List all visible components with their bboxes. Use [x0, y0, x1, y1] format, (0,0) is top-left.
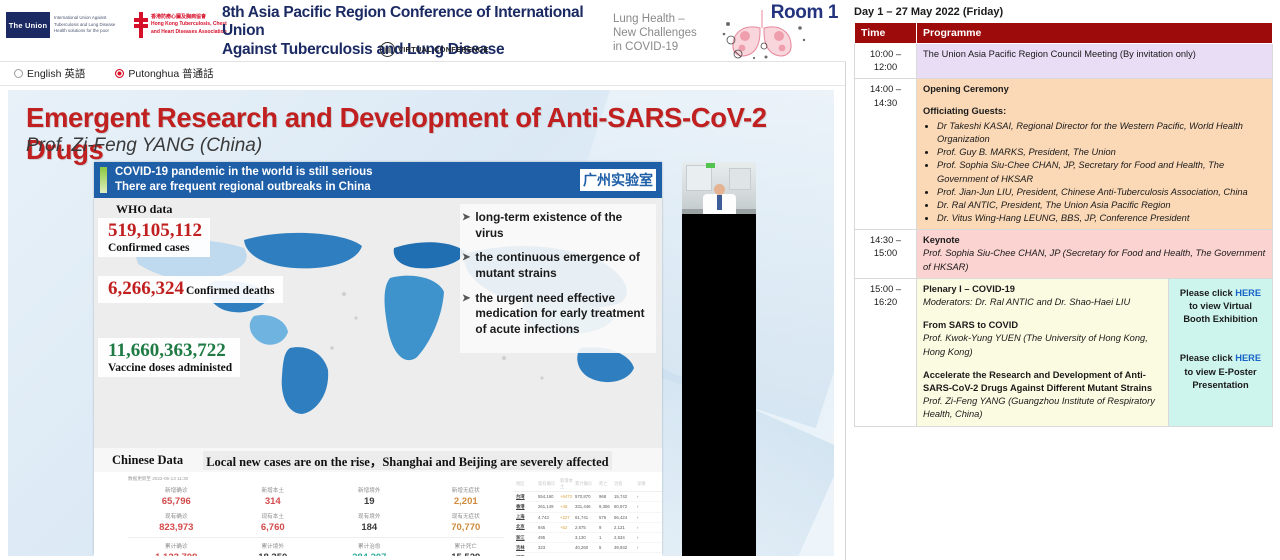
cell: ›: [637, 555, 647, 556]
table-row: 吉林32340,260539,932›: [514, 543, 662, 553]
row-programme: Keynote Prof. Sophia Siu-Chee CHAN, JP (…: [917, 230, 1273, 279]
session-title: Plenary I – COVID-19: [923, 283, 1162, 296]
stat-label: 现有确诊: [128, 512, 225, 520]
cell: 2,121: [614, 525, 635, 530]
virtual-booth-link-block[interactable]: Please click HERE to view Virtual Booth …: [1175, 287, 1266, 327]
arrow-bullet-icon: ➤: [462, 250, 470, 281]
conference-tagline: Lung Health – New Challenges in COVID-19: [613, 12, 697, 54]
row-programme: Opening Ceremony Officiating Guests: Dr …: [917, 79, 1273, 230]
table-row-plenary[interactable]: 15:00 – 16:20 Plenary I – COVID-19 Moder…: [855, 278, 1273, 426]
webcam-person-tie: [717, 195, 722, 210]
stat-value: 184: [321, 522, 418, 533]
webcam-person-head: [714, 184, 725, 195]
stat-confirmed-deaths: 6,266,324 Confirmed deaths: [98, 276, 283, 303]
cell: 吉林: [516, 545, 536, 551]
cell: 202: [538, 555, 558, 556]
cell: ›: [637, 545, 647, 550]
lab-badge: 广州实验室: [580, 169, 656, 191]
column-header: 治愈: [614, 481, 635, 487]
cell: 3,130: [575, 535, 597, 540]
session-title: Opening Ceremony: [923, 83, 1266, 96]
table-row-keynote[interactable]: 14:30 – 15:00 Keynote Prof. Sophia Siu-C…: [855, 230, 1273, 279]
cell: +227: [560, 515, 573, 520]
table-row: 香港261,149+45331,4469,35660,972›: [514, 502, 662, 512]
cell: 261,149: [538, 504, 558, 509]
cell: ›: [637, 494, 647, 499]
cell: 945: [538, 525, 558, 530]
stat-cell: 新增本土314: [225, 486, 322, 507]
here-link[interactable]: HERE: [1235, 288, 1261, 298]
officiating-guests: Officiating Guests: Dr Takeshi KASAI, Re…: [923, 105, 1266, 226]
cell: 2,634: [614, 535, 635, 540]
chinese-totals-grid: 累计确诊1,123,709较昨日+65,796 累计境外18,350较昨日+19…: [128, 542, 514, 556]
column-header: 详情: [637, 481, 647, 487]
list-item: Dr. Vitus Wing-Hang LEUNG, BBS, JP, Conf…: [937, 212, 1266, 225]
column-header: 死亡: [599, 481, 612, 487]
tagline-line1: Lung Health –: [613, 12, 697, 26]
conference-banner: The Union International Union Against Tu…: [0, 0, 846, 62]
hkta-logo-text: 香港防癆心臟及胸病協會 Hong Kong Tuberculosis, Ches…: [151, 14, 229, 37]
here-link[interactable]: HERE: [1235, 353, 1261, 363]
region-table: 地区 现有确诊 新增本土 累计确诊 死亡 治愈 详情 台湾554,160+647…: [514, 472, 662, 556]
cell: +15: [560, 555, 573, 556]
stat-label: 新增确诊: [128, 486, 225, 494]
language-option-putonghua-label: Putonghua 普通話: [128, 66, 213, 81]
row-links: Please click HERE to view Virtual Booth …: [1169, 278, 1273, 426]
stat-label: 新增境外: [321, 486, 418, 494]
stat-confirmed-cases-label: Confirmed cases: [108, 242, 202, 254]
room-badge: Room 1: [771, 2, 838, 24]
cell: 60,972: [614, 504, 635, 509]
cell: 香港: [516, 504, 536, 510]
list-item: ➤ long-term existence of the virus: [462, 210, 652, 241]
cell: +52: [560, 525, 573, 530]
cell: ›: [637, 535, 647, 540]
arrow-bullet-icon: ➤: [462, 210, 470, 241]
slide-header-text: COVID-19 pandemic in the world is still …: [115, 165, 373, 195]
total-label: 累计治愈: [321, 542, 418, 550]
table-header-row: 地区 现有确诊 新增本土 累计确诊 死亡 治愈 详情: [514, 476, 662, 492]
list-item: Prof. Guy B. MARKS, President, The Union: [937, 146, 1266, 159]
column-header: 累计确诊: [575, 481, 597, 487]
stat-confirmed-cases: 519,105,112 Confirmed cases: [98, 218, 210, 257]
eposter-link-block[interactable]: Please click HERE to view E-Poster Prese…: [1175, 352, 1266, 392]
session-moderators: Moderators: Dr. Ral ANTIC and Dr. Shao-H…: [923, 296, 1162, 309]
speaker-video-panel[interactable]: [682, 162, 756, 556]
speaker-webcam-thumbnail[interactable]: [682, 162, 756, 214]
column-header-programme: Programme: [917, 23, 1273, 44]
session-title: Keynote: [923, 234, 1266, 247]
virtual-conference-badge: ▤ VIRTUAL CONFERENCE: [380, 42, 489, 57]
talk-title: From SARS to COVID: [923, 319, 1162, 332]
stat-cell: 现有境外184: [321, 512, 418, 533]
list-item: Prof. Sophia Siu-Chee CHAN, JP, Secretar…: [937, 159, 1266, 185]
stream-column: The Union International Union Against Tu…: [0, 0, 846, 560]
radio-english-icon[interactable]: [14, 69, 23, 78]
row-time: 15:00 – 16:20: [855, 278, 917, 426]
table-row: 台湾554,160+6473570,87096815,742›: [514, 492, 662, 502]
cell: 570,870: [575, 494, 597, 499]
cell: 61,741: [575, 515, 597, 520]
cell: +45: [560, 504, 573, 509]
stat-confirmed-deaths-value: 6,266,324: [108, 278, 184, 300]
guests-list: Dr Takeshi KASAI, Regional Director for …: [937, 120, 1266, 226]
stat-confirmed-deaths-label: Confirmed deaths: [186, 285, 275, 297]
column-header: 新增本土: [560, 478, 573, 490]
total-cell: 累计境外18,350较昨日+19: [225, 542, 322, 556]
list-item: Dr. Ral ANTIC, President, The Union Asia…: [937, 199, 1266, 212]
stat-cell: 新增无症状2,201: [418, 486, 515, 507]
cell: 40,260: [575, 545, 597, 550]
talk-speaker: Prof. Kwok-Yung YUEN (The University of …: [923, 332, 1162, 358]
red-cross-icon: [134, 12, 148, 38]
cell: 3,110: [575, 555, 597, 556]
cell: 331,446: [575, 504, 597, 509]
total-value: 15,529: [418, 552, 515, 556]
slide-bullet-list: ➤ long-term existence of the virus ➤ the…: [460, 204, 656, 353]
total-cell: 累计治愈284,207较昨日+761: [321, 542, 418, 556]
cell: +6473: [560, 494, 573, 499]
divider: [128, 537, 504, 538]
chinese-data-header: Chinese Data Local new cases are on the …: [94, 448, 662, 472]
slide-header-line1: COVID-19 pandemic in the world is still …: [115, 165, 373, 180]
chinese-stats-block: 数据更新至 2022-05-13 11:30 新增确诊65,796 新增本土31…: [94, 472, 514, 556]
table-row: 浙江4953,13012,634›: [514, 533, 662, 543]
programme-table: Time Programme 10:00 – 12:00 The Union A…: [854, 22, 1273, 427]
radio-putonghua-icon[interactable]: [115, 69, 124, 78]
stat-label: 现有无症状: [418, 512, 515, 520]
cell: 北京: [516, 524, 536, 530]
table-row: 河南202+153,110222,886›: [514, 553, 662, 556]
virtual-conference-label: VIRTUAL CONFERENCE: [398, 45, 489, 54]
stat-value: 70,770: [418, 522, 515, 533]
column-header: 现有确诊: [538, 481, 558, 487]
total-label: 累计确诊: [128, 542, 225, 550]
tagline-line2: New Challenges: [613, 26, 697, 40]
cell: 323: [538, 545, 558, 550]
link-prefix: Please click: [1180, 288, 1235, 298]
who-data-label: WHO data: [116, 202, 172, 217]
stat-value: 823,973: [128, 522, 225, 533]
programme-day-title: Day 1 – 27 May 2022 (Friday): [854, 6, 1272, 18]
list-item: ➤ the urgent need effective medication f…: [462, 291, 652, 338]
column-header: 地区: [516, 481, 536, 487]
row-time: 10:00 – 12:00: [855, 44, 917, 79]
cell: ›: [637, 504, 647, 509]
stat-label: 新增本土: [225, 486, 322, 494]
logo-group: The Union International Union Against Tu…: [6, 12, 229, 38]
conference-title-line1: 8th Asia Pacific Region Conference of In…: [222, 4, 622, 41]
stat-cell: 新增境外19: [321, 486, 418, 507]
cell: 上海: [516, 514, 536, 520]
row-programme: The Union Asia Pacific Region Council Me…: [917, 44, 1273, 79]
talk-title: Accelerate the Research and Development …: [923, 369, 1162, 395]
stat-value: 314: [225, 496, 322, 507]
cell: 39,932: [614, 545, 635, 550]
table-header-row: Time Programme: [855, 23, 1273, 44]
cell: 1: [599, 535, 612, 540]
bullet-text: long-term existence of the virus: [475, 210, 652, 241]
cell: 968: [599, 494, 612, 499]
language-option-putonghua[interactable]: Putonghua 普通話: [115, 66, 213, 81]
cell: 576: [599, 515, 612, 520]
cell: 4,743: [538, 515, 558, 520]
slide-body: WHO data 519,105,112 Confirmed cases 6,2…: [94, 198, 662, 448]
stat-vaccine-doses-value: 11,660,363,722: [108, 340, 232, 362]
slide-content: COVID-19 pandemic in the world is still …: [94, 162, 662, 554]
cell: 495: [538, 535, 558, 540]
guests-header: Officiating Guests:: [923, 105, 1266, 118]
cell: 9: [599, 525, 612, 530]
table-row-opening-ceremony[interactable]: 14:00 – 14:30 Opening Ceremony Officiati…: [855, 79, 1273, 230]
slide-header-accent: [100, 167, 107, 193]
stat-cell: 现有确诊823,973: [128, 512, 225, 533]
stat-value: 65,796: [128, 496, 225, 507]
chinese-data-note: Local new cases are on the rise，Shanghai…: [203, 451, 611, 470]
table-row: 北京945+522,67592,121›: [514, 523, 662, 533]
union-logo-mark: The Union: [6, 12, 50, 38]
row-time: 14:00 – 14:30: [855, 79, 917, 230]
cell: 2,675: [575, 525, 597, 530]
presentation-stage[interactable]: Emergent Research and Development of Ant…: [8, 90, 834, 556]
cell: ›: [637, 515, 647, 520]
the-union-logo: The Union International Union Against Tu…: [6, 12, 124, 38]
slide-header-line2: There are frequent regional outbreaks in…: [115, 180, 373, 195]
cell: 河南: [516, 555, 536, 556]
stat-value: 2,201: [418, 496, 515, 507]
cell: 554,160: [538, 494, 558, 499]
hkta-logo-cn: 香港防癆心臟及胸病協會: [151, 14, 229, 22]
chinese-data-panel: 数据更新至 2022-05-13 11:30 新增确诊65,796 新增本土31…: [94, 472, 662, 556]
total-cell: 累计确诊1,123,709较昨日+65,796: [128, 542, 225, 556]
row-programme: Plenary I – COVID-19 Moderators: Dr. Ral…: [917, 278, 1169, 426]
stat-value: 6,760: [225, 522, 322, 533]
tagline-line3: in COVID-19: [613, 40, 697, 54]
talk-speaker: Prof. Zi-Feng YANG (Guangzhou Institute …: [923, 395, 1162, 421]
list-item: Dr Takeshi KASAI, Regional Director for …: [937, 120, 1266, 146]
stat-confirmed-cases-value: 519,105,112: [108, 220, 202, 242]
table-row: 上海4,743+22761,74157656,424›: [514, 513, 662, 523]
total-value: 18,350: [225, 552, 322, 556]
slide-header: COVID-19 pandemic in the world is still …: [94, 162, 662, 198]
cell: 2,886: [614, 555, 635, 556]
spacer: [923, 359, 1162, 369]
cell: 15,742: [614, 494, 635, 499]
union-logo-subtitle: International Union Against Tuberculosis…: [54, 15, 124, 34]
app-root: The Union International Union Against Tu…: [0, 0, 1280, 560]
chinese-data-timestamp: 数据更新至 2022-05-13 11:30: [128, 476, 514, 482]
link-suffix: to view E-Poster Presentation: [1184, 367, 1256, 390]
row-time: 14:30 – 15:00: [855, 230, 917, 279]
total-value: 284,207: [321, 552, 418, 556]
stat-value: 19: [321, 496, 418, 507]
session-speaker: Prof. Sophia Siu-Chee CHAN, JP (Secretar…: [923, 247, 1266, 273]
webcam-shelf: [729, 168, 751, 190]
total-label: 累计死亡: [418, 542, 515, 550]
cell: 56,424: [614, 515, 635, 520]
hkta-logo-en: Hong Kong Tuberculosis, Chest and Heart …: [151, 21, 229, 36]
link-prefix: Please click: [1180, 353, 1235, 363]
chinese-data-label: Chinese Data: [112, 453, 183, 468]
stat-cell: 现有无症状70,770: [418, 512, 515, 533]
cell: 台湾: [516, 494, 536, 500]
presentation-speaker: Prof. Zi-Feng YANG (China): [26, 135, 262, 157]
list-item: ➤ the continuous emergence of mutant str…: [462, 250, 652, 281]
arrow-bullet-icon: ➤: [462, 291, 470, 338]
table-row-council[interactable]: 10:00 – 12:00 The Union Asia Pacific Reg…: [855, 44, 1273, 79]
bullet-text: the urgent need effective medication for…: [475, 291, 652, 338]
stat-label: 新增无症状: [418, 486, 515, 494]
list-item: Prof. Jian-Jun LIU, President, Chinese A…: [937, 186, 1266, 199]
language-selector: English 英語 Putonghua 普通話: [0, 62, 845, 86]
stat-label: 现有境外: [321, 512, 418, 520]
cell: ›: [637, 525, 647, 530]
cell: 9,356: [599, 504, 612, 509]
stat-vaccine-doses-label: Vaccine doses administed: [108, 362, 232, 374]
spacer: [923, 309, 1162, 319]
programme-panel[interactable]: Day 1 – 27 May 2022 (Friday) Time Progra…: [846, 0, 1280, 560]
stat-cell: 现有本土6,760: [225, 512, 322, 533]
stat-cell: 新增确诊65,796: [128, 486, 225, 507]
chinese-stats-grid: 新增确诊65,796 新增本土314 新增境外19 新增无症状2,201 现有确…: [128, 486, 514, 533]
cell: 浙江: [516, 535, 536, 541]
bullet-text: the continuous emergence of mutant strai…: [475, 250, 652, 281]
total-label: 累计境外: [225, 542, 322, 550]
link-suffix: to view Virtual Booth Exhibition: [1183, 301, 1257, 324]
cell: 5: [599, 545, 612, 550]
cell: 22: [599, 555, 612, 556]
language-option-english[interactable]: English 英語: [14, 66, 85, 81]
webcam-cabinet: [686, 165, 712, 191]
total-cell: 累计死亡15,529较昨日+20: [418, 542, 515, 556]
total-value: 1,123,709: [128, 552, 225, 556]
presentation-screen-icon: ▤: [380, 42, 395, 57]
stat-vaccine-doses: 11,660,363,722 Vaccine doses administed: [98, 338, 240, 377]
hkta-logo: 香港防癆心臟及胸病協會 Hong Kong Tuberculosis, Ches…: [134, 12, 229, 38]
column-header-time: Time: [855, 23, 917, 44]
language-option-english-label: English 英語: [27, 66, 85, 81]
webcam-green-object: [706, 163, 715, 168]
stat-label: 现有本土: [225, 512, 322, 520]
